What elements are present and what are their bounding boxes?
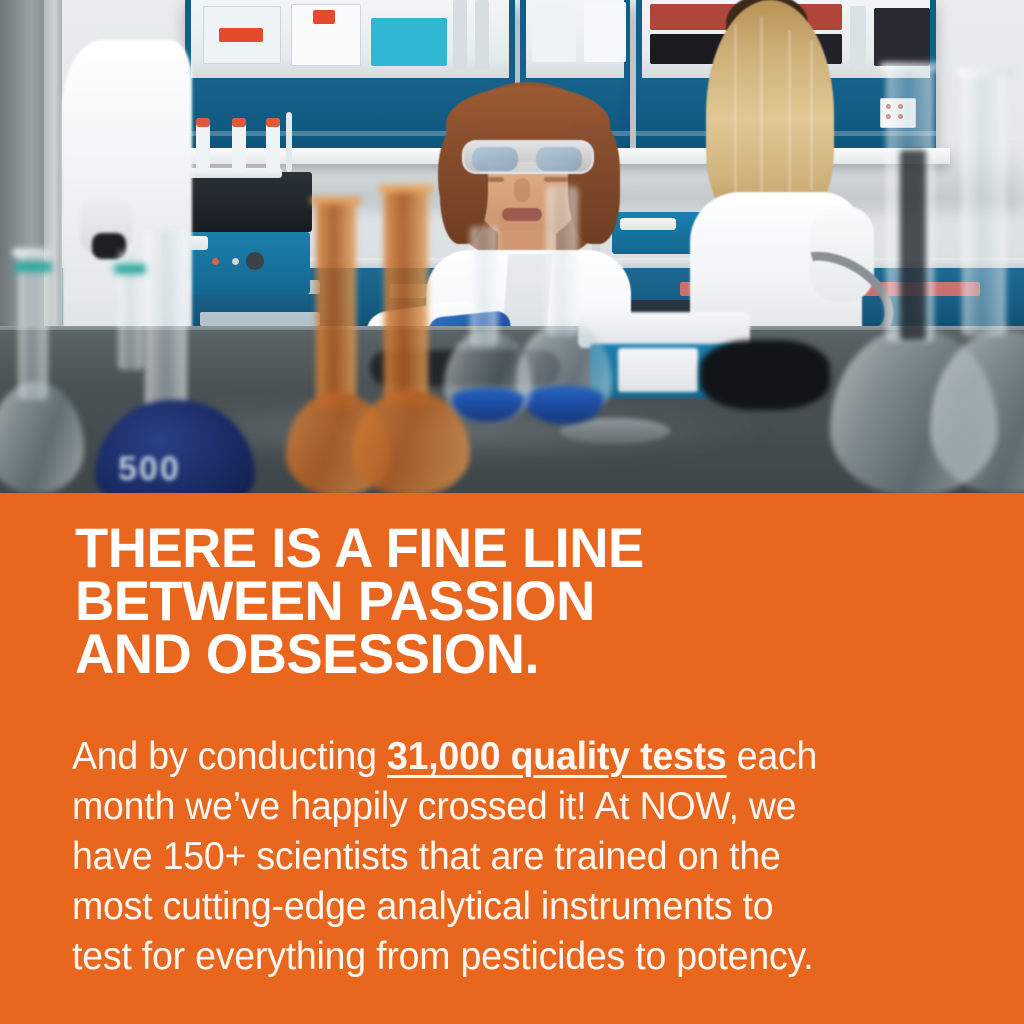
headline-line-2: BETWEEN PASSION — [75, 574, 929, 627]
counter-drawer-2 — [200, 312, 320, 326]
goggles-lens-right — [536, 147, 582, 171]
scientist-mouth — [502, 208, 542, 221]
flask-neck-d — [962, 72, 1006, 336]
body-line-1-post: each — [727, 735, 818, 778]
teal-tape-a — [14, 262, 52, 272]
orange-message-panel: THERE IS A FINE LINE BETWEEN PASSION AND… — [0, 493, 1024, 1024]
balance-platform — [578, 312, 750, 348]
instrument-led-orange — [212, 258, 219, 265]
scientist-brow-left — [478, 177, 504, 182]
bench-cable-coil — [700, 340, 830, 410]
instrument-led-white — [232, 258, 239, 265]
scientist-nose — [514, 178, 530, 202]
body-line-5: test for everything from pesticides to p… — [72, 932, 926, 982]
shelf-label-red-1 — [219, 28, 263, 42]
shelf-box-4 — [584, 2, 626, 62]
center-scientist — [418, 78, 634, 333]
amber-lip-2 — [378, 184, 434, 193]
stand-rod-1 — [286, 112, 292, 172]
flask-lip-c — [880, 62, 942, 71]
flask-lip-d — [956, 68, 1014, 77]
teal-tape-b — [114, 264, 148, 274]
page-title: THERE IS A FINE LINE BETWEEN PASSION AND… — [75, 521, 929, 680]
shelf-box-teal — [371, 18, 447, 66]
cabinet-glass-middle — [526, 0, 624, 78]
lab-photo: 500 — [0, 0, 1024, 493]
flask-label-500: 500 — [118, 450, 181, 489]
body-line-4: most cutting-edge analytical instruments… — [72, 882, 926, 932]
goggles-lens-left — [472, 147, 518, 171]
test-tube-cap-4 — [266, 118, 280, 127]
flask-neck-a — [18, 250, 48, 400]
stirrer-face — [618, 348, 698, 392]
test-tube-cap-2 — [196, 118, 210, 127]
flask-neck-e — [546, 186, 578, 336]
scientist-brow-right — [544, 177, 570, 182]
amber-lip-1 — [310, 196, 362, 205]
headline-line-1: THERE IS A FINE LINE — [75, 521, 929, 574]
social-graphic-canvas: 500 THE — [0, 0, 1024, 1024]
flask-lip-a — [12, 248, 54, 257]
hair-strand-3 — [788, 30, 791, 202]
amber-neck-1 — [316, 200, 356, 408]
body-line-3: have 150+ scientists that are trained on… — [72, 832, 926, 882]
hair-strand-4 — [810, 40, 813, 190]
amber-neck-2 — [384, 188, 428, 406]
body-line-1: And by conducting 31,000 quality tests e… — [72, 732, 926, 782]
body-line-2: month we’ve happily crossed it! At NOW, … — [72, 782, 926, 832]
flask-neck-500 — [145, 230, 187, 410]
cabinet-glass-left — [191, 0, 509, 78]
shelf-box-dark-3 — [874, 8, 930, 66]
test-tube-cap-3 — [232, 118, 246, 127]
right-scientist — [690, 0, 860, 334]
dark-backdrop-column — [900, 150, 926, 340]
shelf-divider-1 — [453, 0, 467, 70]
hair-strand-2 — [760, 16, 763, 212]
shelf-label-red-2 — [313, 10, 335, 24]
body-line-1-pre: And by conducting — [72, 735, 387, 778]
safety-goggles — [462, 140, 594, 174]
shelf-box-3 — [532, 6, 576, 62]
body-copy: And by conducting 31,000 quality tests e… — [72, 732, 926, 982]
flask-neck-f — [470, 226, 498, 346]
instrument-knob — [246, 252, 264, 270]
hair-strand-1 — [734, 24, 737, 204]
headline-line-3: AND OBSESSION. — [75, 627, 929, 680]
shelf-divider-2 — [475, 0, 489, 70]
quality-tests-emphasis: 31,000 quality tests — [387, 735, 727, 778]
